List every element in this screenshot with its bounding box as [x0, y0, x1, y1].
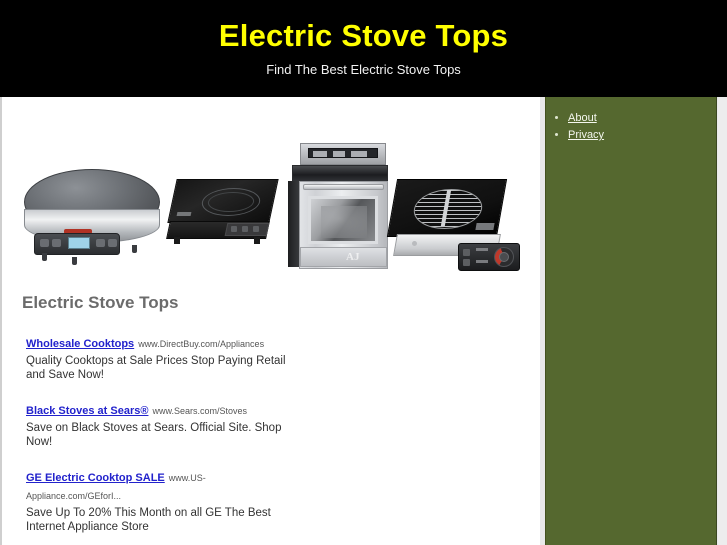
page-right-margin	[718, 97, 727, 545]
grill-key-1	[463, 249, 470, 256]
page-title: Electric Stove Tops	[22, 293, 179, 313]
hotplate-leg-right	[132, 245, 137, 253]
range-digital-display	[308, 148, 378, 158]
ad-item[interactable]: GE Electric Cooktop SALEwww.US-Appliance…	[26, 468, 296, 534]
ad-description: Quality Cooktops at Sale Prices Stop Pay…	[26, 354, 296, 382]
site-tagline: Find The Best Electric Stove Tops	[0, 54, 727, 78]
hotplate-button-right	[96, 239, 105, 247]
page-body: AJ Electric Stove Tops	[0, 97, 727, 545]
range-display-segment-3	[351, 151, 367, 157]
induction-brand-mark	[177, 212, 192, 216]
round-electric-hotplate-image	[20, 165, 165, 273]
hotplate-leg-left	[42, 253, 47, 261]
grill-label-2	[476, 260, 488, 263]
hotplate-display	[68, 237, 90, 249]
range-oven-handle	[303, 184, 384, 190]
sidebar: About Privacy	[545, 97, 717, 545]
sponsored-ads-list: Wholesale Cooktopswww.DirectBuy.com/Appl…	[26, 334, 296, 545]
ad-url: www.Sears.com/Stoves	[152, 406, 247, 416]
ad-title-link[interactable]: Black Stoves at Sears®	[26, 405, 148, 417]
content-column: AJ Electric Stove Tops	[0, 97, 540, 545]
grill-body-screw	[412, 241, 417, 246]
grill-brand-mark	[475, 223, 494, 230]
range-oven-window	[308, 196, 378, 244]
induction-leg-right	[254, 237, 260, 244]
hotplate-button-right2	[108, 239, 117, 247]
induction-leg-left	[174, 237, 180, 244]
ad-description: Save on Black Stoves at Sears. Official …	[26, 421, 296, 449]
sidebar-link-privacy[interactable]: Privacy	[568, 129, 604, 141]
ad-description: Save Up To 20% This Month on all GE The …	[26, 506, 296, 534]
ad-item[interactable]: Black Stoves at Sears®www.Sears.com/Stov…	[26, 401, 296, 449]
grill-dial-knob	[499, 252, 509, 262]
stainless-electric-range-image: AJ	[286, 139, 390, 273]
range-storage-drawer	[300, 247, 387, 267]
hotplate-button-left	[40, 239, 49, 247]
product-image-banner: AJ	[16, 139, 521, 277]
range-oven-window-glass	[321, 206, 367, 238]
ad-title-link[interactable]: Wholesale Cooktops	[26, 338, 134, 350]
site-title: Electric Stove Tops	[0, 0, 727, 54]
range-watermark: AJ	[346, 251, 359, 263]
sidebar-link-about[interactable]: About	[568, 112, 597, 124]
downdraft-grill-module-image	[392, 179, 520, 279]
induction-key-1	[231, 226, 237, 232]
hotplate-leg-mid	[72, 257, 77, 265]
induction-key-2	[242, 226, 248, 232]
ad-url: www.DirectBuy.com/Appliances	[138, 339, 264, 349]
black-induction-cooktop-image	[166, 179, 276, 257]
site-header: Electric Stove Tops Find The Best Electr…	[0, 0, 727, 97]
sidebar-item-about[interactable]: About	[568, 110, 716, 126]
ad-item[interactable]: Wholesale Cooktopswww.DirectBuy.com/Appl…	[26, 334, 296, 382]
ad-title-link[interactable]: GE Electric Cooktop SALE	[26, 472, 165, 484]
grill-label-1	[476, 248, 488, 251]
range-display-segment-1	[313, 151, 327, 157]
hotplate-button-left2	[52, 239, 61, 247]
range-display-segment-2	[333, 151, 345, 157]
sidebar-menu: About Privacy	[546, 97, 716, 143]
induction-key-3	[253, 226, 259, 232]
sidebar-item-privacy[interactable]: Privacy	[568, 127, 716, 143]
grill-key-2	[463, 259, 470, 266]
